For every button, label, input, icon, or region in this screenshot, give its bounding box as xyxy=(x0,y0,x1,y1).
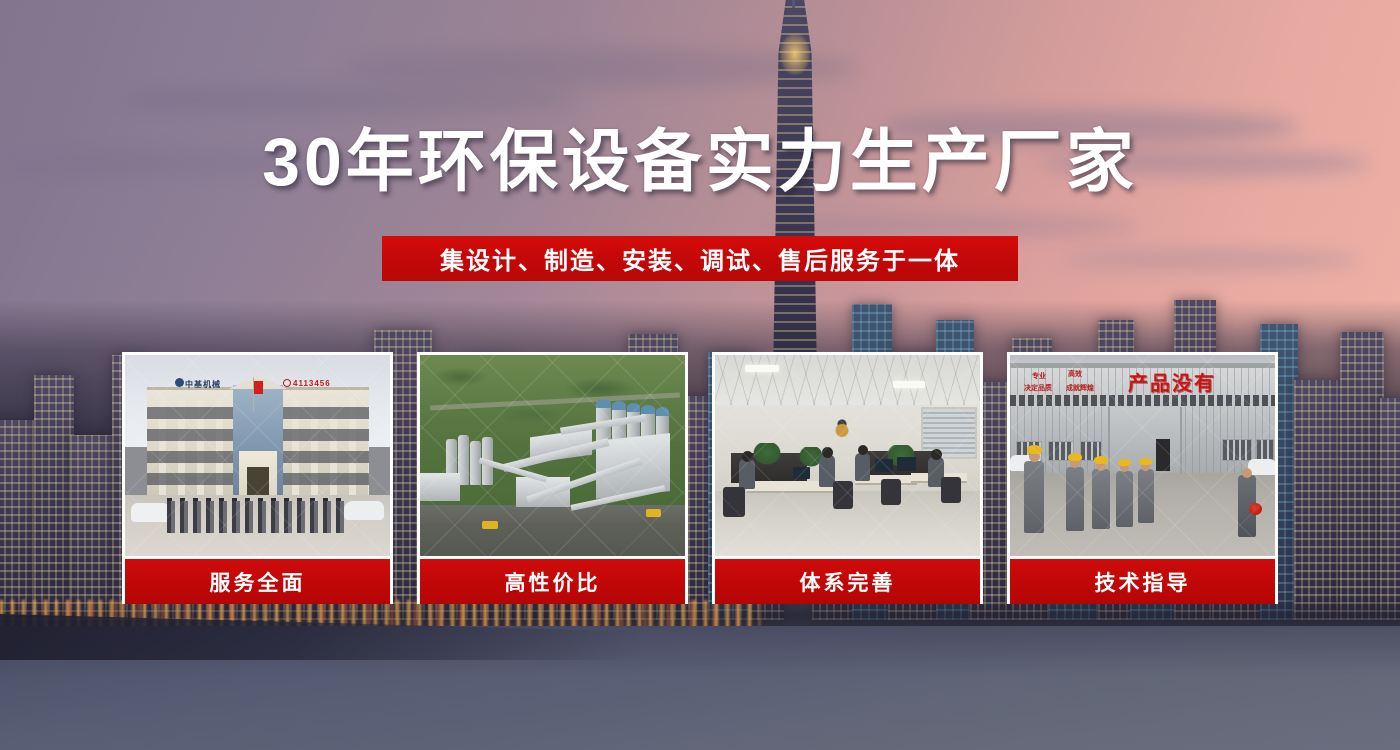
phone-icon xyxy=(283,379,291,387)
factory-slogan-4: 成就辉煌 xyxy=(1066,383,1094,393)
card-caption-label: 高性价比 xyxy=(505,567,601,597)
page-title: 30年环保设备实力生产厂家 xyxy=(0,128,1400,196)
factory-slogan-3: 决定品质 xyxy=(1024,383,1052,393)
feature-card-guidance[interactable]: 产品没有 专业 高效 决定品质 成就辉煌 xyxy=(1007,352,1278,604)
feature-card-row: 中基机械 4113456 服务全面 xyxy=(122,352,1278,604)
feature-card-value[interactable]: 高性价比 xyxy=(417,352,688,604)
card-caption-label: 体系完善 xyxy=(800,567,896,597)
photo-industrial-plant-aerial xyxy=(420,355,685,556)
card-caption: 体系完善 xyxy=(715,559,980,604)
card-caption-label: 技术指导 xyxy=(1095,567,1191,597)
factory-slogan-2: 高效 xyxy=(1068,369,1082,379)
wall-decal-icon xyxy=(825,415,859,443)
tower-light-glow xyxy=(780,33,810,75)
red-helmet-icon xyxy=(1249,503,1262,515)
building-sign-text: 中基机械 xyxy=(185,379,221,390)
photo-workers-at-factory: 产品没有 专业 高效 决定品质 成就辉煌 xyxy=(1010,355,1275,556)
card-caption-label: 服务全面 xyxy=(210,567,306,597)
building-phone-text: 4113456 xyxy=(293,379,331,388)
hero-banner: 30年环保设备实力生产厂家 集设计、制造、安装、调试、售后服务于一体 中基机械 xyxy=(0,0,1400,750)
subtitle-banner: 集设计、制造、安装、调试、售后服务于一体 xyxy=(382,236,1018,281)
card-caption: 技术指导 xyxy=(1010,559,1275,604)
card-caption: 服务全面 xyxy=(125,559,390,604)
photo-office-interior xyxy=(715,355,980,556)
factory-slogan-large: 产品没有 xyxy=(1128,367,1216,396)
company-logo-icon xyxy=(175,378,184,387)
feature-card-service[interactable]: 中基机械 4113456 服务全面 xyxy=(122,352,393,604)
card-caption: 高性价比 xyxy=(420,559,685,604)
factory-slogan-1: 专业 xyxy=(1032,371,1046,381)
subtitle-text: 集设计、制造、安装、调试、售后服务于一体 xyxy=(440,241,960,276)
staff-lineup xyxy=(167,501,349,533)
photo-headquarters-building: 中基机械 4113456 xyxy=(125,355,390,556)
feature-card-system[interactable]: 体系完善 xyxy=(712,352,983,604)
tower-spire xyxy=(792,0,795,8)
